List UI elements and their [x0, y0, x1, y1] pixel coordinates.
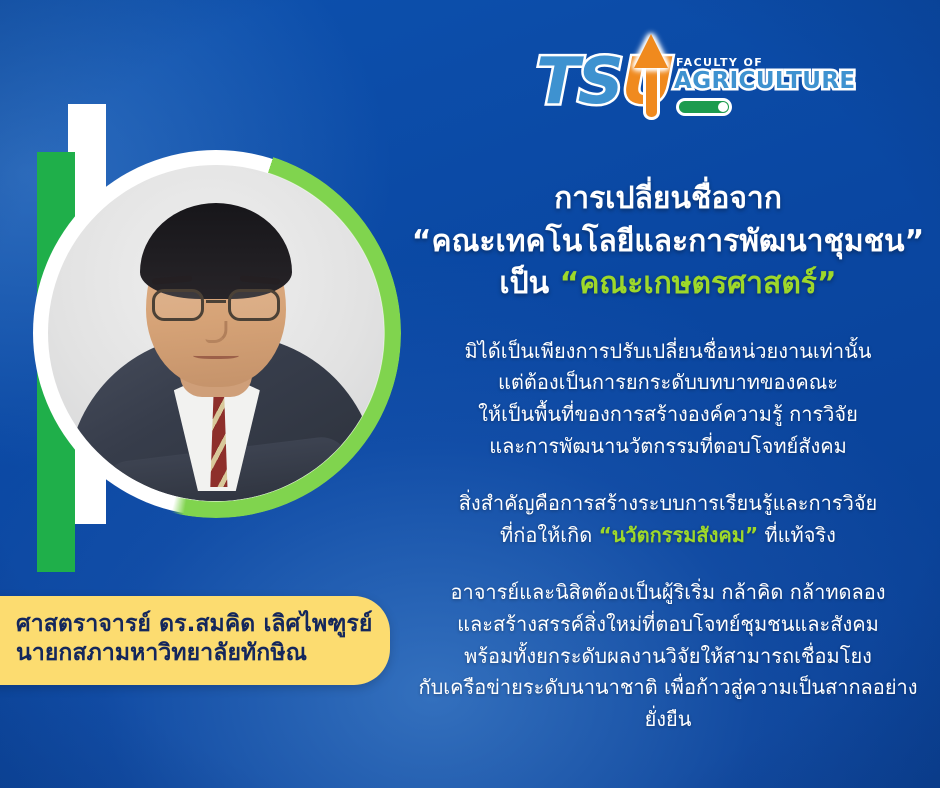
paragraph-2: สิ่งสำคัญคือการสร้างระบบการเรียนรู้และกา… — [408, 488, 928, 551]
paragraph-3-line-2: และสร้างสรรค์สิ่งใหม่ที่ตอบโจทย์ชุมชนและ… — [408, 609, 928, 641]
glasses-lens-right — [228, 289, 280, 321]
portrait-mouth — [193, 351, 239, 359]
pill-fill — [679, 101, 729, 113]
tsu-letters-ts: TS — [536, 45, 622, 119]
paragraph-1: มิได้เป็นเพียงการปรับเปลี่ยนชื่อหน่วยงาน… — [408, 336, 928, 462]
paragraph-2-line-1: สิ่งสำคัญคือการสร้างระบบการเรียนรู้และกา… — [408, 488, 928, 520]
portrait-frame — [33, 150, 399, 516]
speaker-name: ศาสตราจารย์ ดร.สมคิด เลิศไพฑูรย์ — [16, 610, 364, 639]
social-innovation-highlight: “นวัตกรรมสังคม” — [599, 523, 759, 547]
paragraph-1-line-4: และการพัฒนานวัตกรรมที่ตอบโจทย์สังคม — [408, 431, 928, 463]
faculty-name: AGRICULTURE — [674, 70, 856, 93]
glasses-lens-left — [152, 289, 204, 321]
headline-line-1: การเปลี่ยนชื่อจาก — [554, 181, 782, 216]
paragraph-1-line-2: แต่ต้องเป็นการยกระดับบทบาทของคณะ — [408, 367, 928, 399]
paragraph-2-suffix: ที่แท้จริง — [758, 523, 836, 547]
portrait-glasses — [150, 289, 282, 323]
paragraph-3-line-4: กับเครือข่ายระดับนานาชาติ เพื่อก้าวสู่คว… — [408, 672, 928, 735]
headline-line-3-prefix: เป็น — [499, 266, 559, 301]
poster-root: ศาสตราจารย์ ดร.สมคิด เลิศไพฑูรย์ นายกสภา… — [0, 0, 940, 788]
name-banner: ศาสตราจารย์ ดร.สมคิด เลิศไพฑูรย์ นายกสภา… — [0, 596, 390, 685]
arrow-head — [634, 34, 668, 68]
paragraph-3-line-1: อาจารย์และนิสิตต้องเป็นผู้ริเริ่ม กล้าคิ… — [408, 577, 928, 609]
paragraph-3: อาจารย์และนิสิตต้องเป็นผู้ริเริ่ม กล้าคิ… — [408, 577, 928, 735]
paragraph-2-line-2: ที่ก่อให้เกิด “นวัตกรรมสังคม” ที่แท้จริง — [408, 520, 928, 552]
arrow-shaft — [643, 60, 660, 120]
paragraph-1-line-1: มิได้เป็นเพียงการปรับเปลี่ยนชื่อหน่วยงาน… — [408, 336, 928, 368]
headline-line-2: “คณะเทคโนโลยีและการพัฒนาชุมชน” — [412, 224, 924, 259]
portrait-hair — [140, 203, 292, 299]
paragraph-3-line-3: พร้อมทั้งยกระดับผลงานวิจัยให้สามารถเชื่อ… — [408, 641, 928, 673]
arrow-up-icon — [634, 34, 668, 120]
headline-line-3: เป็น “คณะเกษตรศาสตร์” — [408, 263, 928, 306]
headline-new-faculty-name: “คณะเกษตรศาสตร์” — [560, 266, 837, 301]
speaker-title: นายกสภามหาวิทยาลัยทักษิณ — [16, 639, 364, 668]
headline: การเปลี่ยนชื่อจาก “คณะเทคโนโลยีและการพัฒ… — [408, 178, 928, 306]
paragraph-2-prefix: ที่ก่อให้เกิด — [500, 523, 599, 547]
green-toggle-pill-icon — [676, 98, 732, 116]
tsu-faculty-of-agriculture-logo: TSU FACULTY OF AGRICULTURE — [536, 34, 804, 120]
portrait-photo — [48, 165, 384, 501]
glasses-bridge — [206, 300, 226, 303]
content-column: การเปลี่ยนชื่อจาก “คณะเทคโนโลยีและการพัฒ… — [408, 178, 928, 735]
paragraph-1-line-3: ให้เป็นพื้นที่ของการสร้างองค์ความรู้ การ… — [408, 399, 928, 431]
